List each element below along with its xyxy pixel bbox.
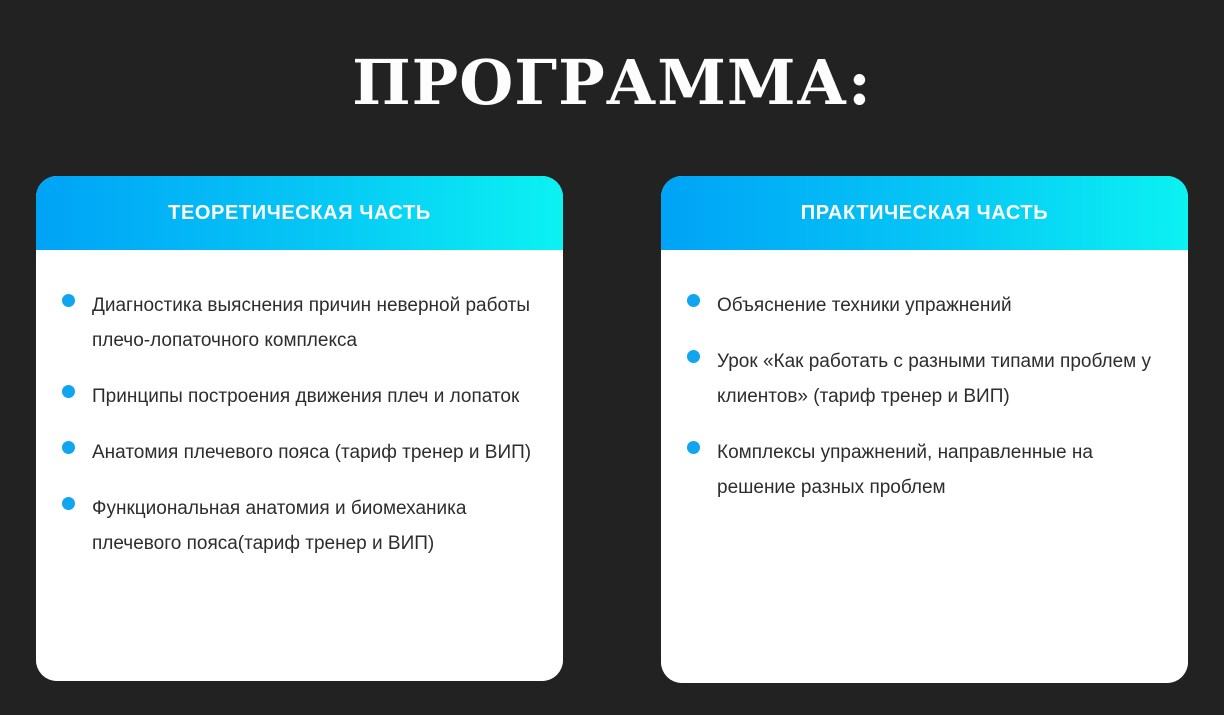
list-item: Урок «Как работать с разными типами проб… [687, 344, 1162, 414]
program-slide: ПРОГРАММА: ТЕОРЕТИЧЕСКАЯ ЧАСТЬ Диагности… [0, 0, 1224, 715]
list-item: Функциональная анатомия и биомеханика пл… [62, 491, 537, 561]
list-item-label: Комплексы упражнений, направленные на ре… [717, 435, 1162, 505]
bullet-dot-icon [687, 441, 700, 454]
bullet-list-theoretical: Диагностика выяснения причин неверной ра… [62, 288, 537, 561]
card-practical-part: ПРАКТИЧЕСКАЯ ЧАСТЬ Объяснение техники уп… [661, 176, 1188, 683]
list-item: Анатомия плечевого пояса (тариф тренер и… [62, 435, 537, 470]
list-item-label: Анатомия плечевого пояса (тариф тренер и… [92, 435, 531, 470]
list-item: Объяснение техники упражнений [687, 288, 1162, 323]
card-body-practical: Объяснение техники упражнений Урок «Как … [661, 250, 1188, 683]
card-header-title-practical: ПРАКТИЧЕСКАЯ ЧАСТЬ [801, 202, 1048, 225]
card-body-theoretical: Диагностика выяснения причин неверной ра… [36, 250, 563, 681]
list-item-label: Диагностика выяснения причин неверной ра… [92, 288, 537, 358]
bullet-dot-icon [62, 385, 75, 398]
list-item-label: Урок «Как работать с разными типами проб… [717, 344, 1162, 414]
list-item-label: Функциональная анатомия и биомеханика пл… [92, 491, 537, 561]
list-item: Принципы построения движения плеч и лопа… [62, 379, 537, 414]
list-item: Диагностика выяснения причин неверной ра… [62, 288, 537, 358]
page-title: ПРОГРАММА: [0, 46, 1224, 120]
bullet-dot-icon [687, 350, 700, 363]
bullet-dot-icon [62, 294, 75, 307]
program-cards-container: ТЕОРЕТИЧЕСКАЯ ЧАСТЬ Диагностика выяснени… [36, 176, 1188, 683]
list-item: Комплексы упражнений, направленные на ре… [687, 435, 1162, 505]
bullet-dot-icon [62, 497, 75, 510]
bullet-dot-icon [687, 294, 700, 307]
list-item-label: Принципы построения движения плеч и лопа… [92, 379, 519, 414]
bullet-dot-icon [62, 441, 75, 454]
card-header-title-theoretical: ТЕОРЕТИЧЕСКАЯ ЧАСТЬ [168, 202, 431, 225]
card-theoretical-part: ТЕОРЕТИЧЕСКАЯ ЧАСТЬ Диагностика выяснени… [36, 176, 563, 681]
list-item-label: Объяснение техники упражнений [717, 288, 1012, 323]
card-header-theoretical: ТЕОРЕТИЧЕСКАЯ ЧАСТЬ [36, 176, 563, 250]
card-header-practical: ПРАКТИЧЕСКАЯ ЧАСТЬ [661, 176, 1188, 250]
bullet-list-practical: Объяснение техники упражнений Урок «Как … [687, 288, 1162, 505]
